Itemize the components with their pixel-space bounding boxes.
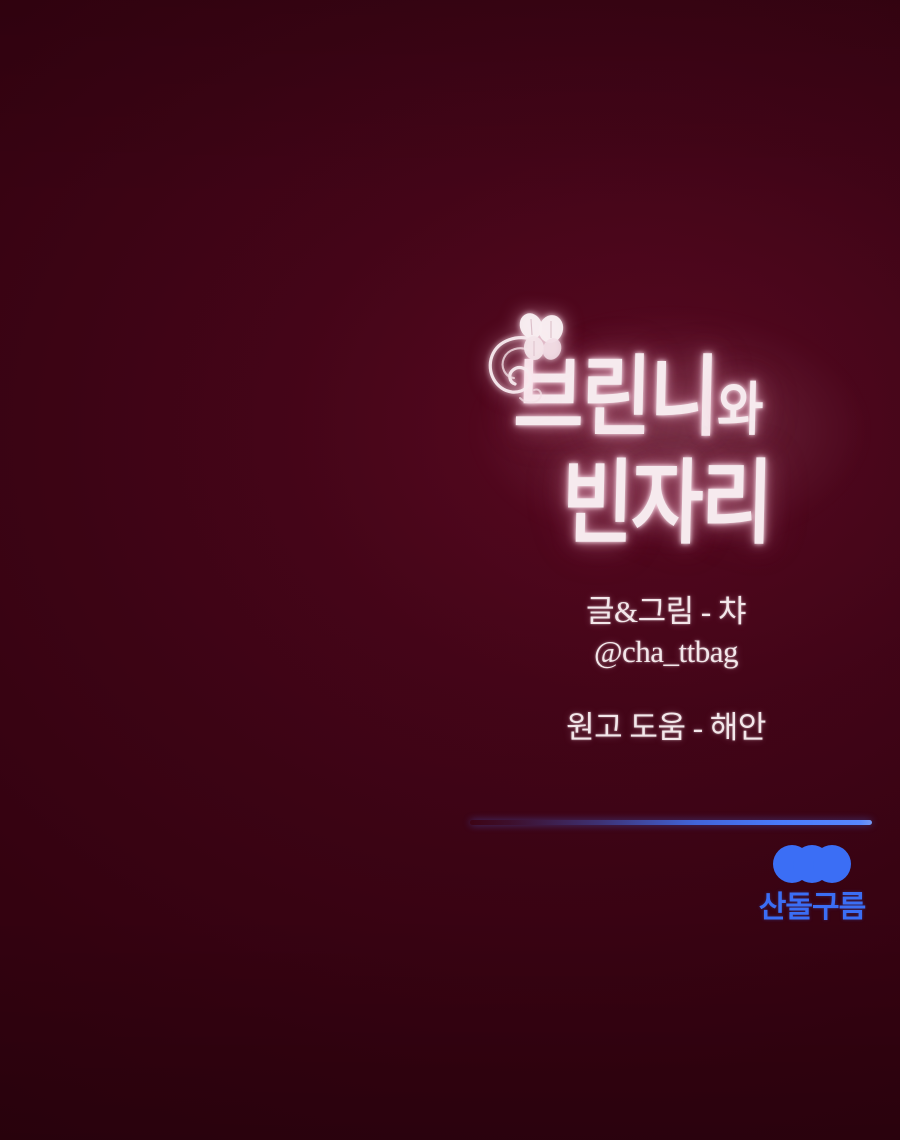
title-block: 브린니와 빈자리 (470, 300, 870, 560)
cloud-circle-right (813, 845, 851, 883)
sandoll-cloud-icon (773, 845, 851, 885)
title-line-2: 빈자리 (561, 430, 773, 562)
flower-vine-ornament-icon (476, 306, 596, 426)
title-card-canvas: 브린니와 빈자리 글&그림 - 챠 @cha_ttbag 원고 도움 - 해안 … (0, 0, 900, 1140)
brand-name-label: 산돌구름 (742, 891, 882, 925)
credit-author: 글&그림 - 챠 (470, 592, 862, 632)
credits-block: 글&그림 - 챠 @cha_ttbag 원고 도움 - 해안 (470, 592, 862, 748)
credit-assist: 원고 도움 - 해안 (470, 708, 862, 748)
credit-handle: @cha_ttbag (470, 632, 862, 672)
font-brand-block: 산돌구름 (742, 845, 882, 925)
footer-separator-line (470, 820, 872, 825)
credits-spacer (470, 672, 862, 708)
